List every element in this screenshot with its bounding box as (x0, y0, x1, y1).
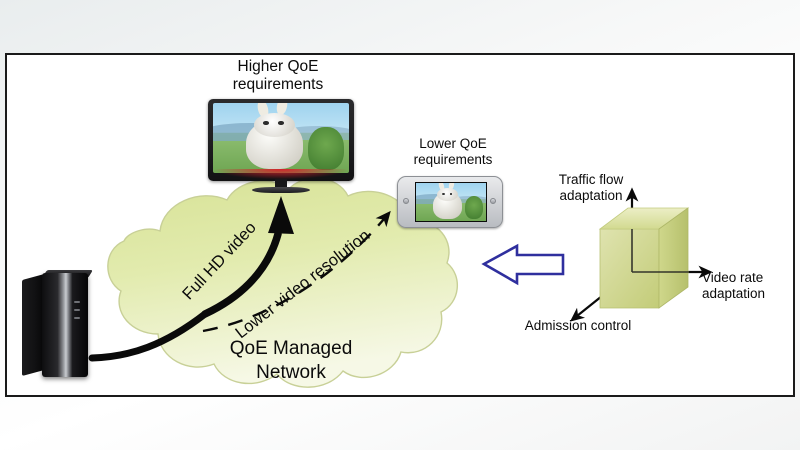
tv-screen (213, 103, 349, 173)
server-tower[interactable] (22, 270, 98, 380)
label-lower-qoe: Lower QoE requirements (388, 136, 518, 167)
adaptation-cube (600, 208, 688, 308)
slide-stage: Higher QoE requirements Lower QoE requir… (0, 0, 800, 450)
phone-speaker (403, 198, 409, 204)
label-traffic-flow-adaptation: Traffic flow adaptation (526, 172, 656, 203)
server-side-panel (22, 274, 44, 376)
label-video-rate-adaptation: Video rate adaptation (702, 270, 798, 301)
server-led (74, 309, 80, 311)
label-higher-qoe: Higher QoE requirements (198, 58, 358, 94)
label-admission-control: Admission control (498, 318, 658, 334)
label-qoe-managed-network: QoE Managed Network (196, 337, 386, 385)
server-front-panel (42, 273, 88, 377)
phone-home-button[interactable] (490, 198, 496, 204)
rabbit-video-frame (213, 103, 349, 173)
server-led (74, 301, 80, 303)
smartphone[interactable] (397, 176, 503, 228)
blue-left-arrow (484, 246, 563, 283)
tv-base (252, 187, 310, 193)
television[interactable] (208, 99, 354, 195)
server-led (74, 317, 80, 319)
rabbit-video-frame (416, 183, 486, 221)
tv-power-glow (214, 169, 348, 179)
phone-screen (415, 182, 487, 222)
